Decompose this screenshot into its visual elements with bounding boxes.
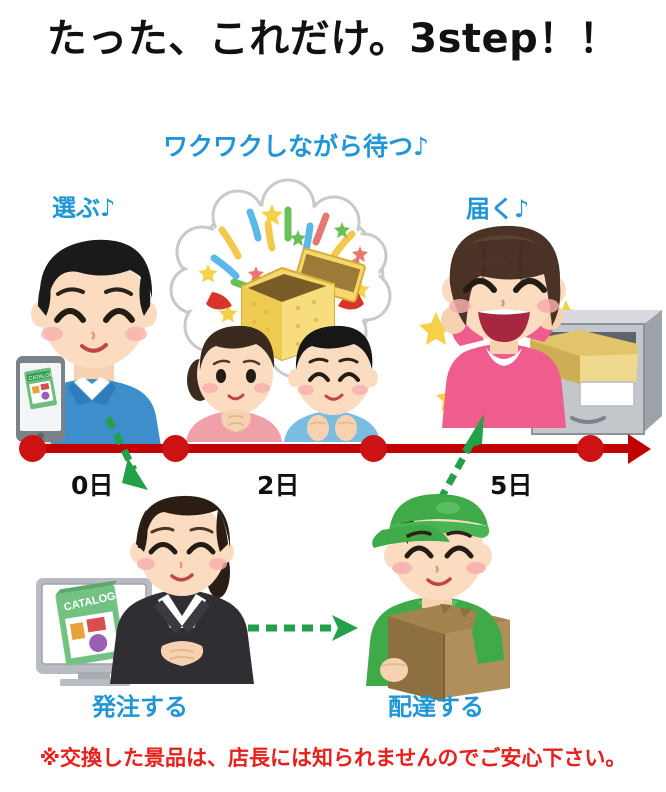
green-arrow-up-to-arrive [432, 412, 504, 504]
caption-arrive: 届く♪ [466, 189, 529, 224]
caption-choose: 選ぶ♪ [52, 188, 115, 223]
caption-order: 発注する [92, 687, 188, 722]
caption-waiting: ワクワクしながら待つ♪ [163, 127, 429, 163]
office-woman-ordering-illustration: CATALOG [22, 496, 274, 686]
timeline-dot-1[interactable] [162, 435, 189, 462]
timeline-dot-0[interactable] [19, 435, 46, 462]
page-title: たった、これだけ。3step！！ [0, 6, 666, 64]
footer-disclaimer: ※交換した景品は、店長には知られませんのでご安心下さい。 [0, 742, 666, 772]
man-holding-smartphone-illustration: CATALOG [2, 222, 182, 437]
infographic-canvas: たった、これだけ。3step！！ ワクワクしながら待つ♪ 選ぶ♪ 届く♪ [0, 0, 666, 792]
thought-cloud-gift-illustration [176, 186, 394, 436]
timeline-arrowhead-icon [628, 434, 651, 464]
delivery-man-illustration [360, 494, 550, 686]
timeline-dot-2[interactable] [360, 435, 387, 462]
timeline-dot-3[interactable] [577, 435, 604, 462]
green-arrow-down-to-order [100, 414, 164, 498]
caption-deliver: 配達する [388, 687, 484, 722]
